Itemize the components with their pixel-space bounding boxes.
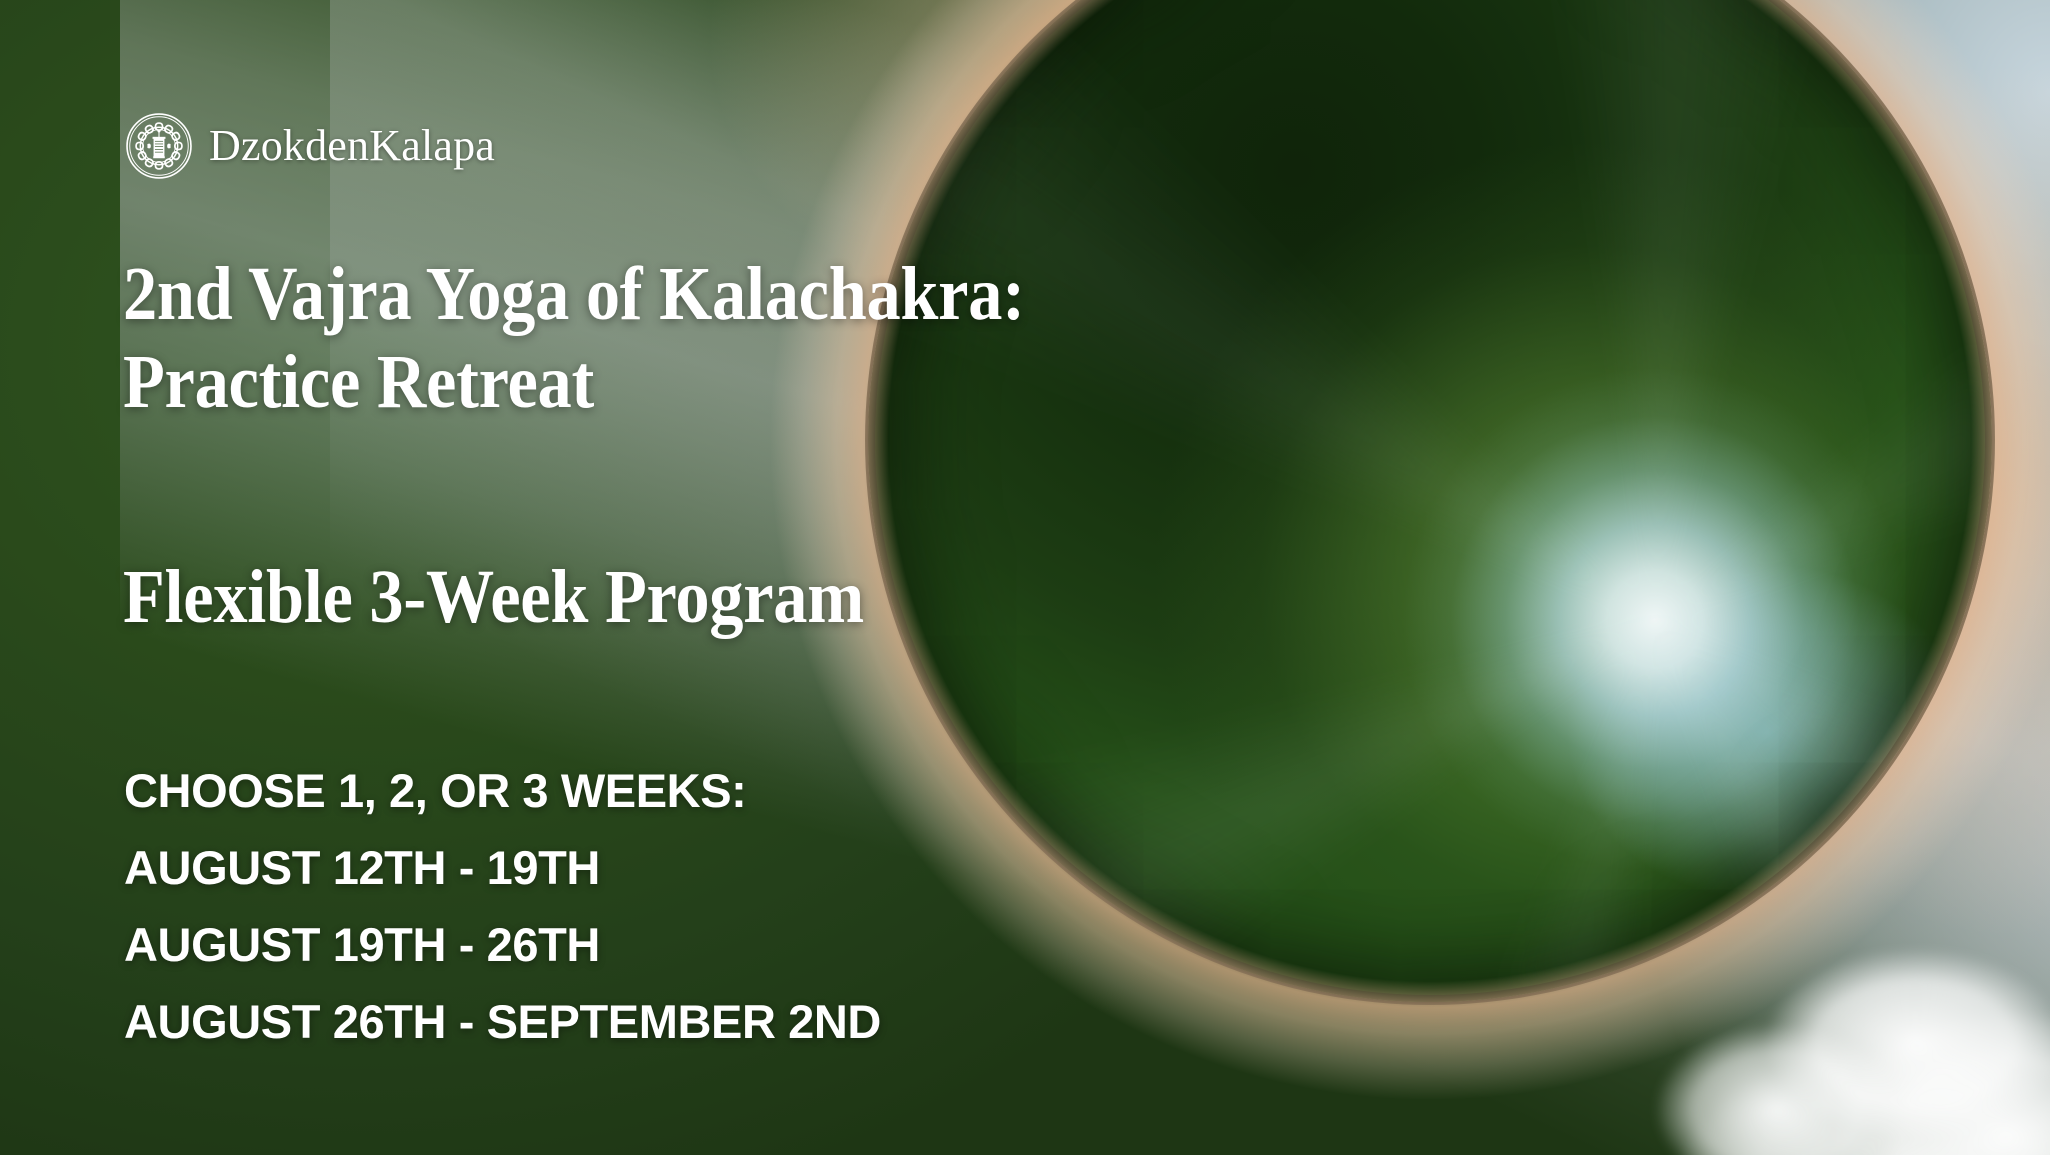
brand-wordmark: DzokdenKalapa (209, 124, 495, 168)
content-layer: DzokdenKalapa 2nd Vajra Yoga of Kalachak… (0, 0, 2050, 1155)
program-subheading: Flexible 3-Week Program (123, 555, 864, 640)
brand-logo[interactable]: DzokdenKalapa (125, 112, 495, 180)
schedule-option-1: AUGUST 12TH - 19TH (124, 829, 881, 906)
schedule-option-2: AUGUST 19TH - 26TH (124, 906, 881, 983)
headline-line-1: 2nd Vajra Yoga of Kalachakra: (123, 250, 1025, 338)
dzokden-mandala-emblem-icon (125, 112, 193, 180)
schedule-block: CHOOSE 1, 2, OR 3 WEEKS: AUGUST 12TH - 1… (124, 752, 881, 1060)
schedule-prompt: CHOOSE 1, 2, OR 3 WEEKS: (124, 752, 881, 829)
page-title: 2nd Vajra Yoga of Kalachakra: Practice R… (123, 250, 1025, 426)
schedule-option-3: AUGUST 26TH - SEPTEMBER 2ND (124, 983, 881, 1060)
headline-line-2: Practice Retreat (123, 338, 1025, 426)
promotional-banner: DzokdenKalapa 2nd Vajra Yoga of Kalachak… (0, 0, 2050, 1155)
